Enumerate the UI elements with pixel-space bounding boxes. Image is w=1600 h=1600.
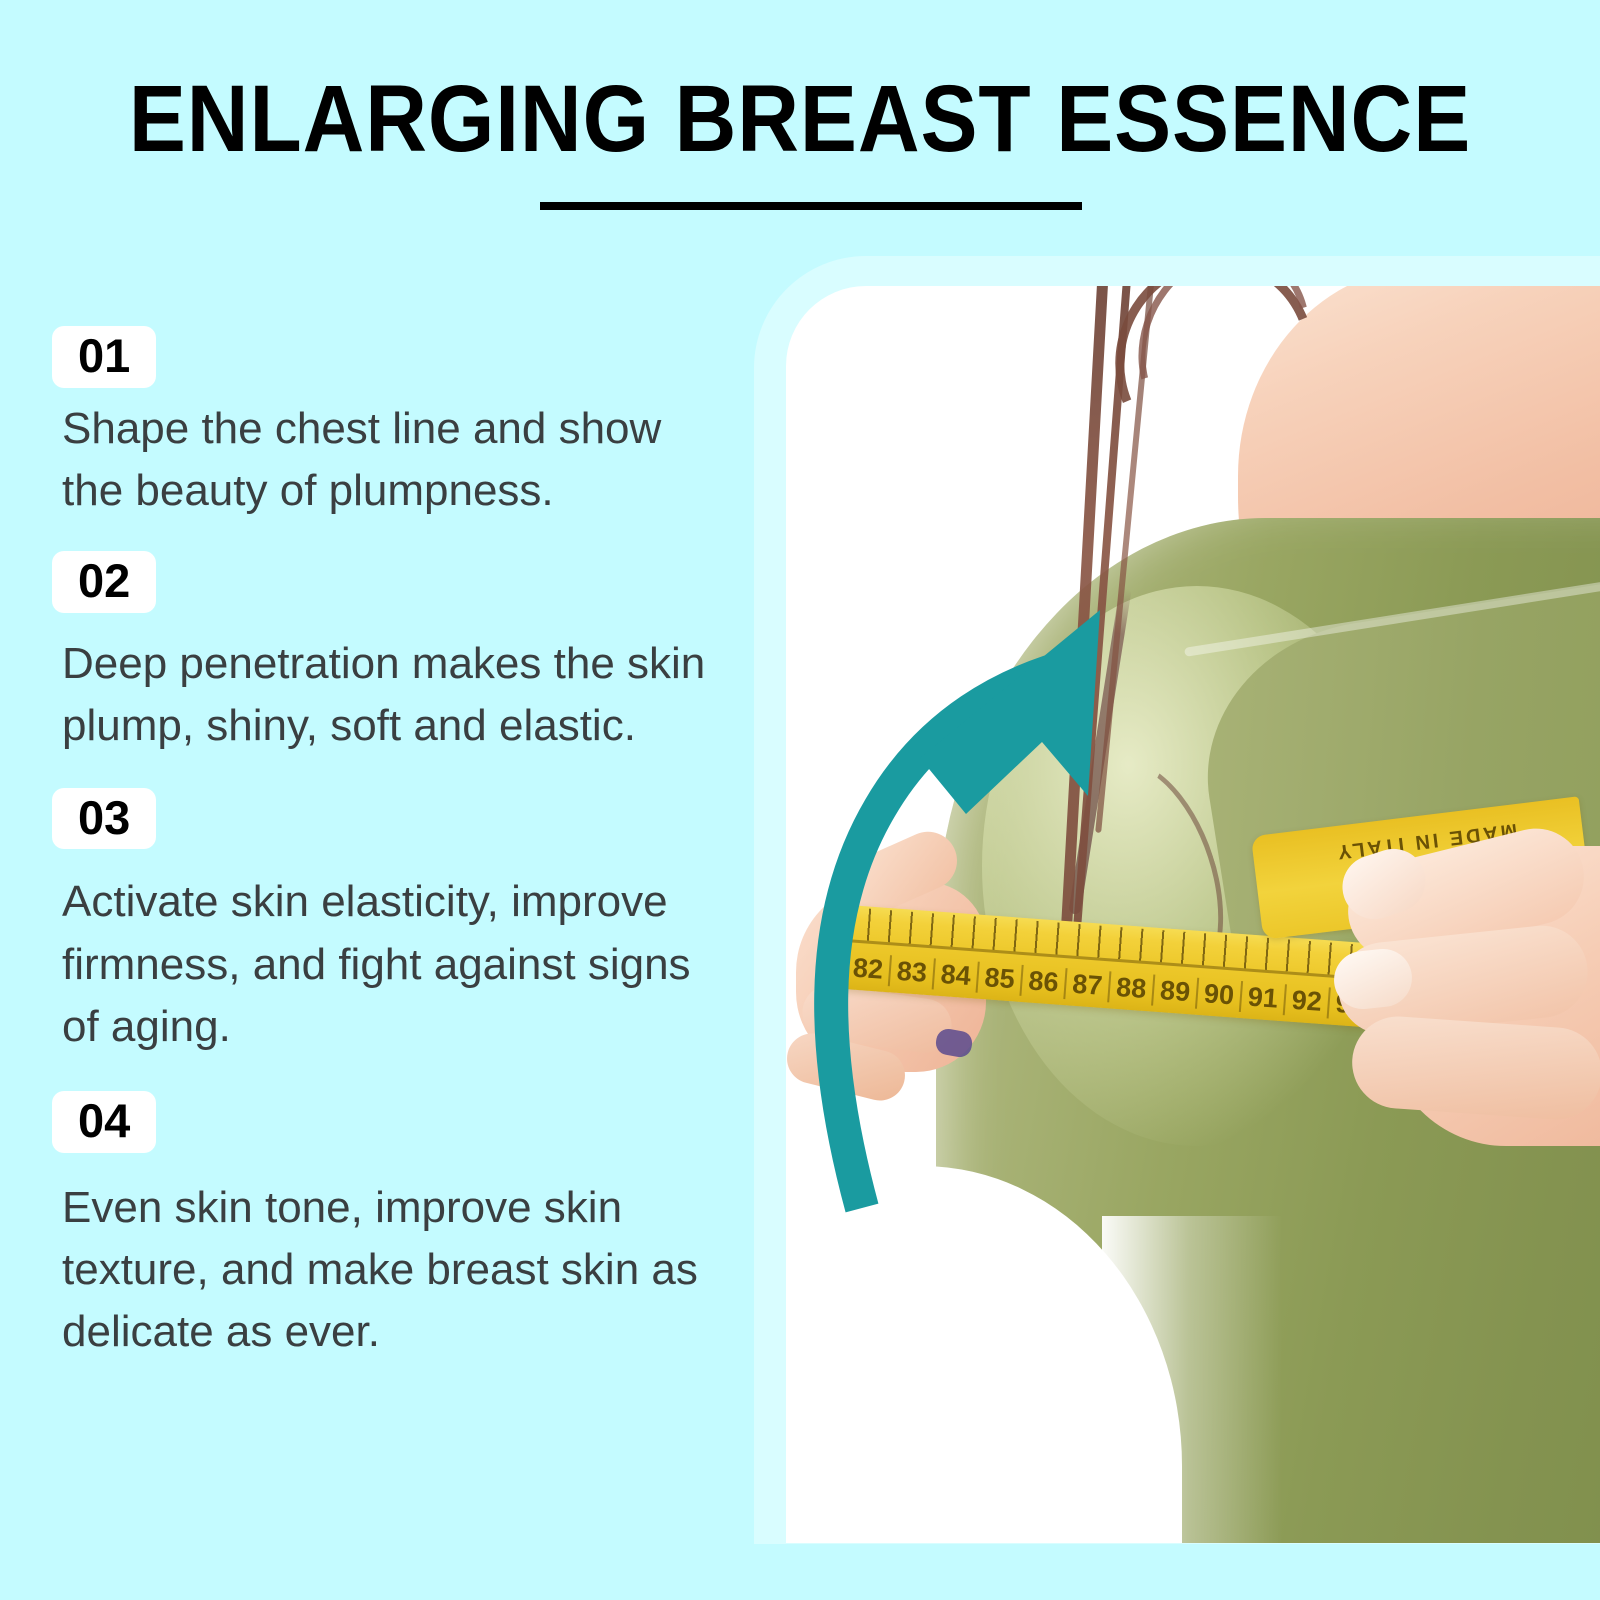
tape-number: 84: [934, 958, 980, 992]
feature-list: 01 Shape the chest line and show the bea…: [52, 326, 712, 1366]
feature-number-badge: 03: [52, 788, 156, 850]
feature-description: Activate skin elasticity, improve firmne…: [62, 871, 712, 1058]
feature-item-01: 01 Shape the chest line and show the bea…: [52, 326, 712, 523]
feature-description: Shape the chest line and show the beauty…: [62, 398, 712, 523]
product-photo: 82 83 84 85 86 87 88 89 90 91 92 93 94 9…: [786, 286, 1600, 1543]
feature-number-badge: 02: [52, 551, 156, 613]
tape-number: 90: [1197, 977, 1243, 1011]
right-hand-finger: [1349, 1013, 1600, 1122]
tape-number: 82: [846, 952, 892, 986]
tape-number: 88: [1109, 971, 1155, 1005]
tape-number: 87: [1065, 968, 1111, 1002]
tape-number: 86: [1021, 965, 1067, 999]
feature-item-03: 03 Activate skin elasticity, improve fir…: [52, 788, 712, 1059]
page-title: ENLARGING BREAST ESSENCE: [80, 72, 1520, 167]
tape-number: 91: [1241, 981, 1287, 1015]
feature-item-04: 04 Even skin tone, improve skin texture,…: [52, 1091, 712, 1364]
tape-number: 92: [1285, 984, 1331, 1018]
waist-soft-edge: [1102, 1216, 1282, 1543]
infographic-poster: ENLARGING BREAST ESSENCE 01 Shape the ch…: [0, 0, 1600, 1600]
feature-number-badge: 04: [52, 1091, 156, 1153]
feature-description: Even skin tone, improve skin texture, an…: [62, 1177, 712, 1364]
feature-description: Deep penetration makes the skin plump, s…: [62, 633, 712, 758]
tape-number: 89: [1153, 974, 1199, 1008]
tape-number: 85: [978, 961, 1024, 995]
tape-number: 83: [890, 955, 936, 989]
feature-item-02: 02 Deep penetration makes the skin plump…: [52, 551, 712, 758]
feature-number-badge: 01: [52, 326, 156, 388]
title-divider: [540, 202, 1082, 210]
